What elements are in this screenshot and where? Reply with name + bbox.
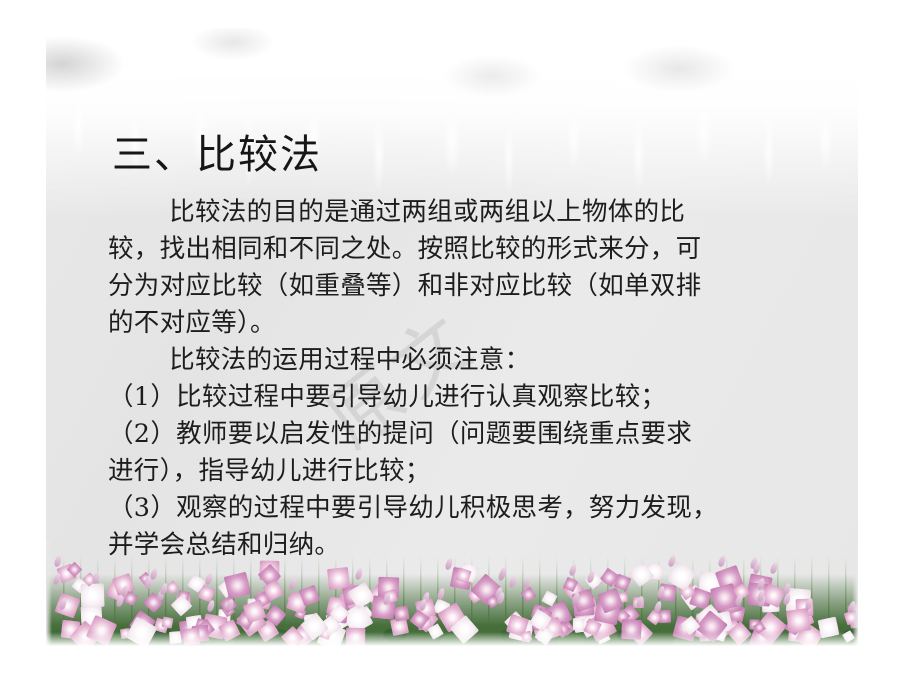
flower-blossom bbox=[161, 617, 173, 629]
slide-body: 比较法的目的是通过两组或两组以上物体的比 较，找出相同和不同之处。按照比较的形式… bbox=[108, 194, 808, 564]
flower-blossom bbox=[573, 619, 584, 630]
body-line: 的不对应等）。 bbox=[108, 305, 808, 342]
flower-bud bbox=[52, 572, 61, 585]
body-line: （2）教师要以启发性的提问（问题要围绕重点要求 bbox=[108, 416, 808, 453]
flower-bud bbox=[149, 568, 158, 581]
cloud-shadow-layer bbox=[46, 28, 858, 148]
flower-bud bbox=[509, 575, 518, 588]
flower-blossom bbox=[224, 571, 252, 599]
flower-bud bbox=[354, 567, 363, 580]
flower-bud bbox=[769, 561, 778, 574]
cloud-wisp-layer bbox=[46, 28, 858, 218]
body-line: 较，找出相同和不同之处。按照比较的形式来分，可 bbox=[108, 231, 808, 268]
body-line: 进行），指导幼儿进行比较； bbox=[108, 453, 808, 490]
flower-blossom bbox=[521, 586, 537, 602]
flower-bud bbox=[91, 571, 100, 584]
flower-bud bbox=[498, 566, 507, 579]
flower-blossom bbox=[327, 567, 350, 590]
cloud-decoration bbox=[46, 28, 858, 218]
flower-bud bbox=[204, 572, 213, 585]
body-line: 分为对应比较（如重叠等）和非对应比较（如单双排 bbox=[108, 268, 808, 305]
flower-bud bbox=[436, 588, 445, 601]
flower-bottom-fade bbox=[46, 632, 858, 648]
body-line: 比较法的目的是通过两组或两组以上物体的比 bbox=[108, 194, 808, 231]
slide-canvas: 原文 三、比较法 比较法的目的是通过两组或两组以上物体的比 较，找出相同和不同之… bbox=[46, 28, 858, 648]
body-line: （3）观察的过程中要引导幼儿积极思考，努力发现， bbox=[108, 490, 808, 527]
flower-bud bbox=[289, 577, 298, 590]
body-line: 比较法的运用过程中必须注意： bbox=[108, 342, 808, 379]
flower-bud bbox=[54, 554, 63, 567]
flower-border-decoration bbox=[46, 540, 858, 648]
flower-blossom bbox=[81, 583, 105, 607]
body-line: （1）比较过程中要引导幼儿进行认真观察比较； bbox=[108, 379, 808, 416]
cloud-base-layer bbox=[46, 28, 858, 218]
flower-bud bbox=[568, 563, 577, 576]
flower-blossom bbox=[786, 608, 811, 633]
flower-bud bbox=[718, 554, 727, 567]
presentation-page: 原文 三、比较法 比较法的目的是通过两组或两组以上物体的比 较，找出相同和不同之… bbox=[0, 0, 900, 675]
flower-blossom bbox=[393, 605, 409, 621]
slide-title: 三、比较法 bbox=[112, 132, 322, 178]
